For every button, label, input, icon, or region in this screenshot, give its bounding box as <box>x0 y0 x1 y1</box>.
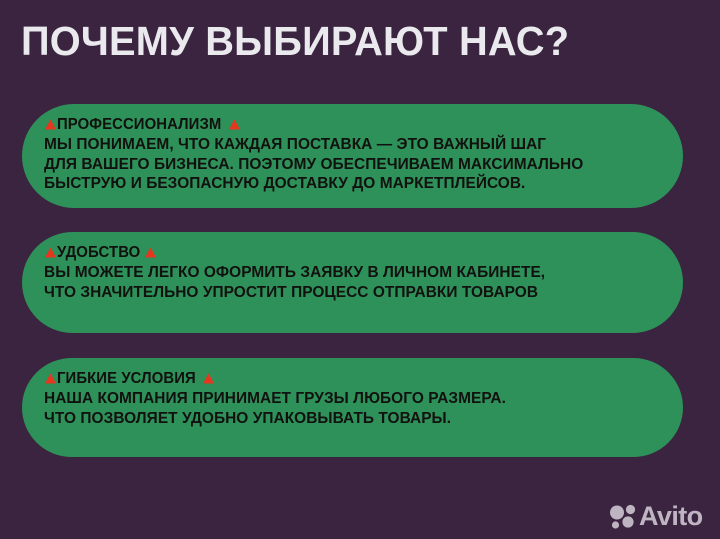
benefit-card-body: НАША КОМПАНИЯ ПРИНИМАЕТ ГРУЗЫ ЛЮБОГО РАЗ… <box>44 389 661 428</box>
benefit-card-line: ВЫ МОЖЕТЕ ЛЕГКО ОФОРМИТЬ ЗАЯВКУ В ЛИЧНОМ… <box>44 263 639 283</box>
avito-dots-icon <box>609 504 636 529</box>
promo-poster: ПОЧЕМУ ВЫБИРАЮТ НАС? ПРОФЕССИОНАЛИЗМ МЫ … <box>0 0 720 539</box>
red-triangle-icon <box>228 118 241 131</box>
benefit-card-line: НАША КОМПАНИЯ ПРИНИМАЕТ ГРУЗЫ ЛЮБОГО РАЗ… <box>44 389 639 409</box>
red-triangle-icon <box>44 118 57 131</box>
benefit-card: УДОБСТВО ВЫ МОЖЕТЕ ЛЕГКО ОФОРМИТЬ ЗАЯВКУ… <box>22 232 683 333</box>
benefit-card-line: БЫСТРУЮ И БЕЗОПАСНУЮ ДОСТАВКУ ДО МАРКЕТП… <box>44 174 639 194</box>
benefit-card-line: ДЛЯ ВАШЕГО БИЗНЕСА. ПОЭТОМУ ОБЕСПЕЧИВАЕМ… <box>44 155 639 175</box>
avito-watermark: Avito <box>609 503 703 530</box>
benefit-card-heading-text: ГИБКИЕ УСЛОВИЯ <box>57 369 196 388</box>
benefit-card-body: ВЫ МОЖЕТЕ ЛЕГКО ОФОРМИТЬ ЗАЯВКУ В ЛИЧНОМ… <box>44 263 661 302</box>
benefit-card-heading: ПРОФЕССИОНАЛИЗМ <box>44 115 661 134</box>
benefit-card-heading-text: УДОБСТВО <box>57 243 140 262</box>
benefit-card-body: МЫ ПОНИМАЕМ, ЧТО КАЖДАЯ ПОСТАВКА — ЭТО В… <box>44 135 661 194</box>
benefit-card: ПРОФЕССИОНАЛИЗМ МЫ ПОНИМАЕМ, ЧТО КАЖДАЯ … <box>22 104 683 208</box>
benefit-card-heading: УДОБСТВО <box>44 243 661 262</box>
benefit-card-line: ЧТО ЗНАЧИТЕЛЬНО УПРОСТИТ ПРОЦЕСС ОТПРАВК… <box>44 283 639 303</box>
red-triangle-icon <box>44 246 57 259</box>
benefit-card: ГИБКИЕ УСЛОВИЯ НАША КОМПАНИЯ ПРИНИМАЕТ Г… <box>22 358 683 457</box>
benefit-card-line: МЫ ПОНИМАЕМ, ЧТО КАЖДАЯ ПОСТАВКА — ЭТО В… <box>44 135 639 155</box>
benefit-card-line: ЧТО ПОЗВОЛЯЕТ УДОБНО УПАКОВЫВАТЬ ТОВАРЫ. <box>44 409 639 429</box>
red-triangle-icon <box>44 372 57 385</box>
red-triangle-icon <box>144 246 157 259</box>
avito-wordmark: Avito <box>639 503 703 530</box>
page-title: ПОЧЕМУ ВЫБИРАЮТ НАС? <box>21 19 569 63</box>
benefit-card-heading: ГИБКИЕ УСЛОВИЯ <box>44 369 661 388</box>
red-triangle-icon <box>202 372 215 385</box>
benefit-card-heading-text: ПРОФЕССИОНАЛИЗМ <box>57 115 221 134</box>
